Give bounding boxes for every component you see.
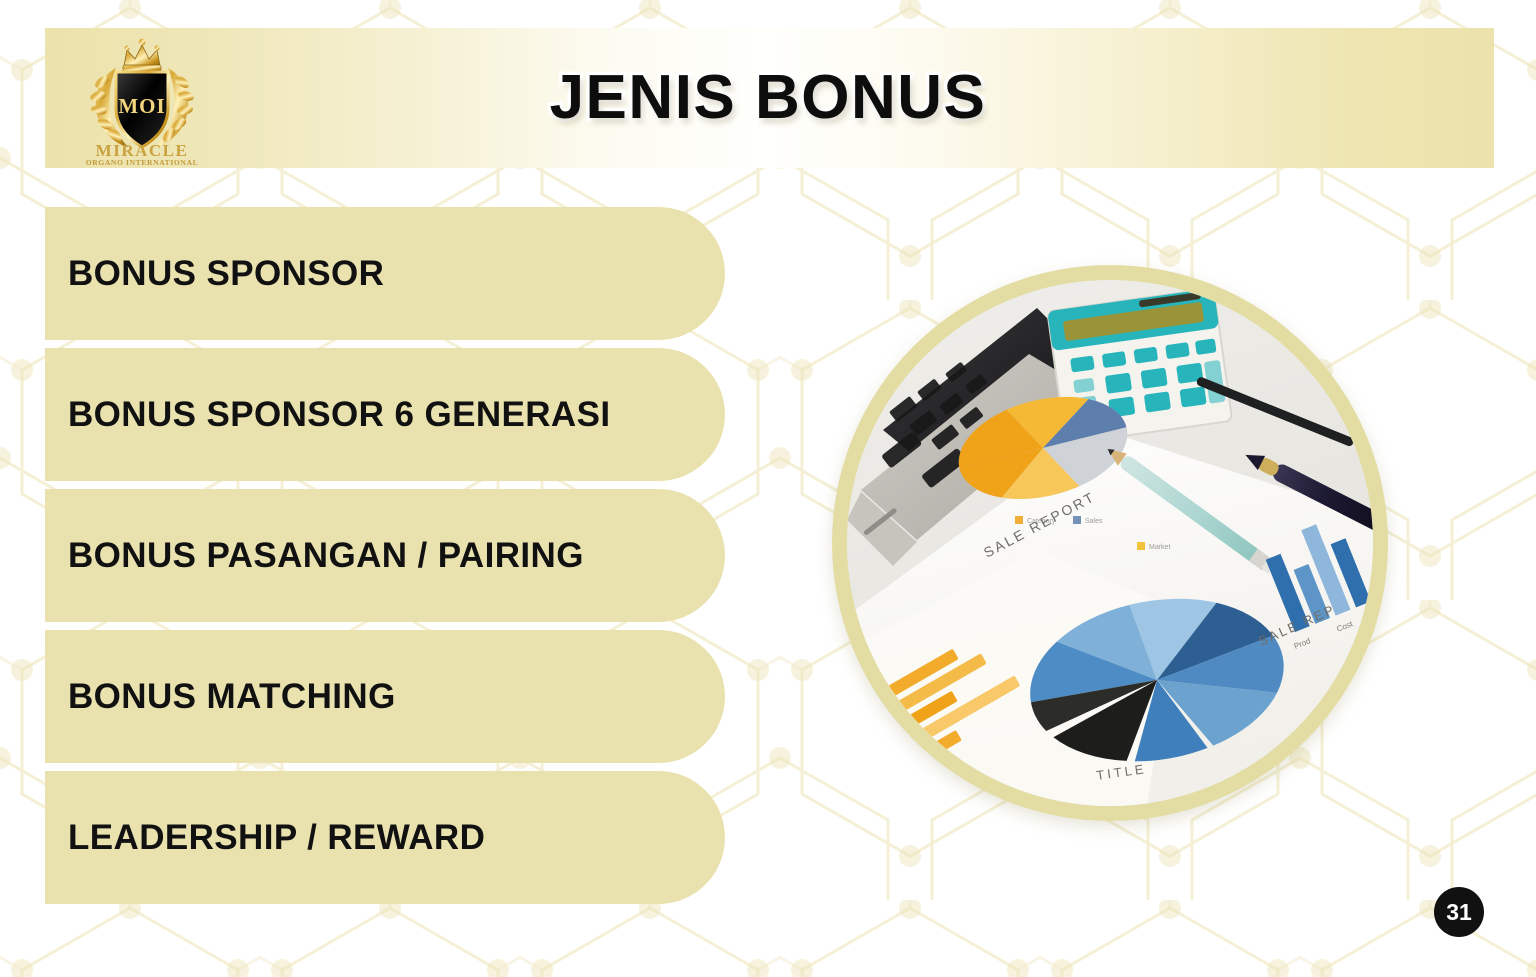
business-report-photo: Category Sales Market SALE REPORT [847,280,1373,806]
presentation-slide: MOI MIRACLE ORGANO INTERNATIONAL JENIS B… [0,0,1536,977]
bonus-item-sponsor[interactable]: BONUS SPONSOR [45,207,725,340]
svg-text:Sales: Sales [1085,518,1103,525]
photo-circle-frame: Category Sales Market SALE REPORT [832,265,1388,821]
bonus-item-label: BONUS SPONSOR 6 GENERASI [45,395,610,435]
bonus-list: BONUS SPONSOR BONUS SPONSOR 6 GENERASI B… [45,207,725,912]
slide-title: JENIS BONUS [0,62,1536,133]
bonus-item-leadership-reward[interactable]: LEADERSHIP / REWARD [45,771,725,904]
logo-brand-subtitle: ORGANO INTERNATIONAL [86,158,199,166]
svg-text:Market: Market [1149,544,1170,551]
bonus-item-label: BONUS MATCHING [45,677,396,717]
bonus-item-label: BONUS PASANGAN / PAIRING [45,536,584,576]
bonus-item-matching[interactable]: BONUS MATCHING [45,630,725,763]
svg-text:Spring: Spring [847,751,858,770]
photo-clip: Category Sales Market SALE REPORT [847,280,1373,806]
bonus-item-label: BONUS SPONSOR [45,254,384,294]
bonus-item-pasangan-pairing[interactable]: BONUS PASANGAN / PAIRING [45,489,725,622]
svg-text:March: March [847,734,852,753]
bonus-item-label: LEADERSHIP / REWARD [45,818,485,858]
page-number-badge: 31 [1434,887,1484,937]
bonus-item-sponsor-6-generasi[interactable]: BONUS SPONSOR 6 GENERASI [45,348,725,481]
